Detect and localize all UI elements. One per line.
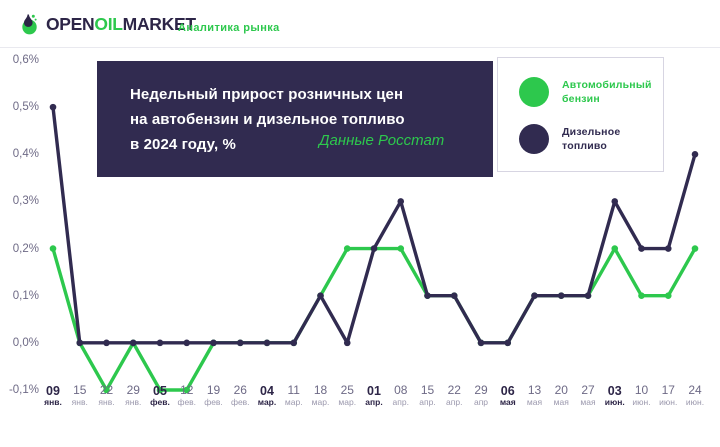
title-card: Недельный прирост розничных цен на автоб… — [97, 61, 493, 177]
data-point[interactable] — [183, 340, 190, 347]
data-point[interactable] — [344, 245, 351, 252]
data-point[interactable] — [76, 340, 83, 347]
data-point[interactable] — [611, 198, 618, 205]
legend-swatch-diesel — [519, 124, 549, 154]
data-point[interactable] — [103, 340, 110, 347]
legend-item-diesel[interactable]: Дизельное топливо — [519, 124, 620, 154]
x-tick-day: 04 — [258, 384, 276, 398]
x-tick-month: апр — [474, 398, 488, 408]
x-tick-month: мар. — [312, 398, 330, 408]
x-axis-tick-14: 15апр. — [419, 384, 435, 408]
legend-label-diesel-line2: топливо — [562, 140, 607, 152]
x-axis-tick-4: 05фев. — [150, 384, 170, 408]
data-point[interactable] — [478, 340, 485, 347]
x-tick-month: янв. — [72, 398, 88, 408]
x-axis-tick-0: 09янв. — [44, 384, 62, 408]
x-axis-tick-22: 10июн. — [632, 384, 650, 408]
x-tick-month: апр. — [419, 398, 435, 408]
x-axis-tick-13: 08апр. — [393, 384, 409, 408]
x-tick-month: апр. — [365, 398, 382, 408]
x-tick-month: янв. — [44, 398, 62, 408]
x-axis-tick-8: 04мар. — [258, 384, 276, 408]
y-axis-tick-4: 0,2% — [13, 243, 39, 255]
page-header: OPENOILMARKET Аналитика рынка — [0, 0, 720, 48]
x-tick-day: 19 — [204, 384, 223, 398]
data-point[interactable] — [451, 292, 458, 299]
data-point[interactable] — [397, 198, 404, 205]
x-axis-tick-17: 06мая — [500, 384, 516, 408]
data-point[interactable] — [157, 340, 164, 347]
x-tick-month: мая — [580, 398, 595, 408]
tagline: Аналитика рынка — [178, 22, 280, 34]
logo-text-open: OPEN — [46, 14, 94, 34]
data-point[interactable] — [424, 292, 431, 299]
x-axis-tick-7: 26фев. — [231, 384, 250, 408]
x-tick-month: мая — [500, 398, 516, 408]
x-tick-month: июн. — [632, 398, 650, 408]
x-tick-month: мар. — [258, 398, 276, 408]
legend-label-diesel-line1: Дизельное — [562, 126, 620, 138]
data-point[interactable] — [371, 245, 378, 252]
legend-item-gasoline[interactable]: Автомобильный бензин — [519, 77, 652, 107]
x-tick-month: фев. — [231, 398, 250, 408]
data-point[interactable] — [290, 340, 297, 347]
x-tick-day: 15 — [419, 384, 435, 398]
data-point[interactable] — [638, 245, 645, 252]
data-point[interactable] — [50, 245, 57, 252]
data-point[interactable] — [611, 245, 618, 252]
x-tick-month: мая — [527, 398, 542, 408]
x-axis-tick-19: 20мая — [554, 384, 569, 408]
title-line-2: на автобензин и дизельное топливо — [130, 107, 480, 132]
x-tick-day: 06 — [500, 384, 516, 398]
x-tick-month: июн. — [659, 398, 677, 408]
x-axis-tick-10: 18мар. — [312, 384, 330, 408]
x-tick-month: апр. — [446, 398, 462, 408]
data-point[interactable] — [665, 292, 672, 299]
x-tick-month: апр. — [393, 398, 409, 408]
x-tick-day: 29 — [125, 384, 141, 398]
legend-label-diesel: Дизельное топливо — [562, 125, 620, 153]
series-gasoline — [50, 245, 699, 393]
data-point[interactable] — [344, 340, 351, 347]
x-axis-tick-3: 29янв. — [125, 384, 141, 408]
y-axis-tick-5: 0,1% — [13, 290, 39, 302]
data-source-label: Данные Росстат — [319, 132, 444, 149]
x-axis-tick-23: 17июн. — [659, 384, 677, 408]
x-tick-day: 09 — [44, 384, 62, 398]
y-axis-tick-0: 0,6% — [13, 54, 39, 66]
data-point[interactable] — [264, 340, 271, 347]
x-axis-tick-24: 24июн. — [686, 384, 704, 408]
legend-label-gasoline-line1: Автомобильный — [562, 79, 652, 91]
y-axis-tick-2: 0,4% — [13, 148, 39, 160]
x-tick-day: 29 — [474, 384, 488, 398]
x-axis-tick-12: 01апр. — [365, 384, 382, 408]
y-axis-tick-1: 0,5% — [13, 101, 39, 113]
y-axis-tick-6: 0,0% — [13, 337, 39, 349]
x-tick-day: 11 — [285, 384, 303, 398]
data-point[interactable] — [504, 340, 511, 347]
data-point[interactable] — [130, 340, 137, 347]
logo[interactable]: OPENOILMARKET — [18, 13, 196, 35]
data-point[interactable] — [397, 245, 404, 252]
legend-label-gasoline-line2: бензин — [562, 93, 600, 105]
legend-label-gasoline: Автомобильный бензин — [562, 78, 652, 106]
x-tick-month: июн. — [605, 398, 625, 408]
x-axis-tick-6: 19фев. — [204, 384, 223, 408]
logo-text-oil: OIL — [94, 14, 122, 34]
data-point[interactable] — [317, 292, 324, 299]
data-point[interactable] — [531, 292, 538, 299]
data-point[interactable] — [50, 104, 57, 111]
data-point[interactable] — [210, 340, 217, 347]
data-point[interactable] — [692, 151, 699, 158]
x-tick-day: 27 — [580, 384, 595, 398]
x-axis-tick-18: 13мая — [527, 384, 542, 408]
x-tick-day: 25 — [338, 384, 356, 398]
x-tick-month: мая — [554, 398, 569, 408]
title-line-1: Недельный прирост розничных цен — [130, 82, 480, 107]
x-tick-month: янв. — [98, 398, 114, 408]
x-tick-day: 26 — [231, 384, 250, 398]
logo-text: OPENOILMARKET — [46, 13, 196, 35]
x-axis-tick-5: 12фев. — [177, 384, 196, 408]
x-tick-day: 12 — [177, 384, 196, 398]
y-axis-tick-3: 0,3% — [13, 195, 39, 207]
x-axis-tick-11: 25мар. — [338, 384, 356, 408]
x-axis-tick-9: 11мар. — [285, 384, 303, 408]
x-tick-day: 22 — [98, 384, 114, 398]
x-tick-day: 24 — [686, 384, 704, 398]
x-tick-day: 03 — [605, 384, 625, 398]
x-tick-day: 22 — [446, 384, 462, 398]
oil-drop-icon — [18, 13, 40, 35]
data-point[interactable] — [692, 245, 699, 252]
x-axis-tick-2: 22янв. — [98, 384, 114, 408]
legend-swatch-gasoline — [519, 77, 549, 107]
x-tick-day: 05 — [150, 384, 170, 398]
x-axis-tick-16: 29апр — [474, 384, 488, 408]
data-point[interactable] — [585, 292, 592, 299]
x-axis-tick-15: 22апр. — [446, 384, 462, 408]
x-axis-tick-20: 27мая — [580, 384, 595, 408]
data-point[interactable] — [638, 292, 645, 299]
x-axis-tick-1: 15янв. — [72, 384, 88, 408]
x-tick-day: 01 — [365, 384, 382, 398]
x-tick-month: янв. — [125, 398, 141, 408]
x-tick-day: 13 — [527, 384, 542, 398]
x-tick-day: 20 — [554, 384, 569, 398]
x-tick-month: июн. — [686, 398, 704, 408]
x-tick-day: 10 — [632, 384, 650, 398]
data-point[interactable] — [237, 340, 244, 347]
x-tick-day: 17 — [659, 384, 677, 398]
x-tick-month: мар. — [338, 398, 356, 408]
x-tick-month: фев. — [177, 398, 196, 408]
x-axis-tick-21: 03июн. — [605, 384, 625, 408]
legend: Автомобильный бензин Дизельное топливо — [497, 57, 664, 172]
data-point[interactable] — [665, 245, 672, 252]
data-point[interactable] — [558, 292, 565, 299]
x-tick-day: 18 — [312, 384, 330, 398]
x-tick-month: мар. — [285, 398, 303, 408]
y-axis-tick-7: -0,1% — [9, 384, 39, 396]
x-tick-month: фев. — [150, 398, 170, 408]
x-tick-day: 08 — [393, 384, 409, 398]
x-tick-day: 15 — [72, 384, 88, 398]
x-tick-month: фев. — [204, 398, 223, 408]
x-axis-labels: 09янв.15янв.22янв.29янв.05фев.12фев.19фе… — [47, 384, 715, 444]
